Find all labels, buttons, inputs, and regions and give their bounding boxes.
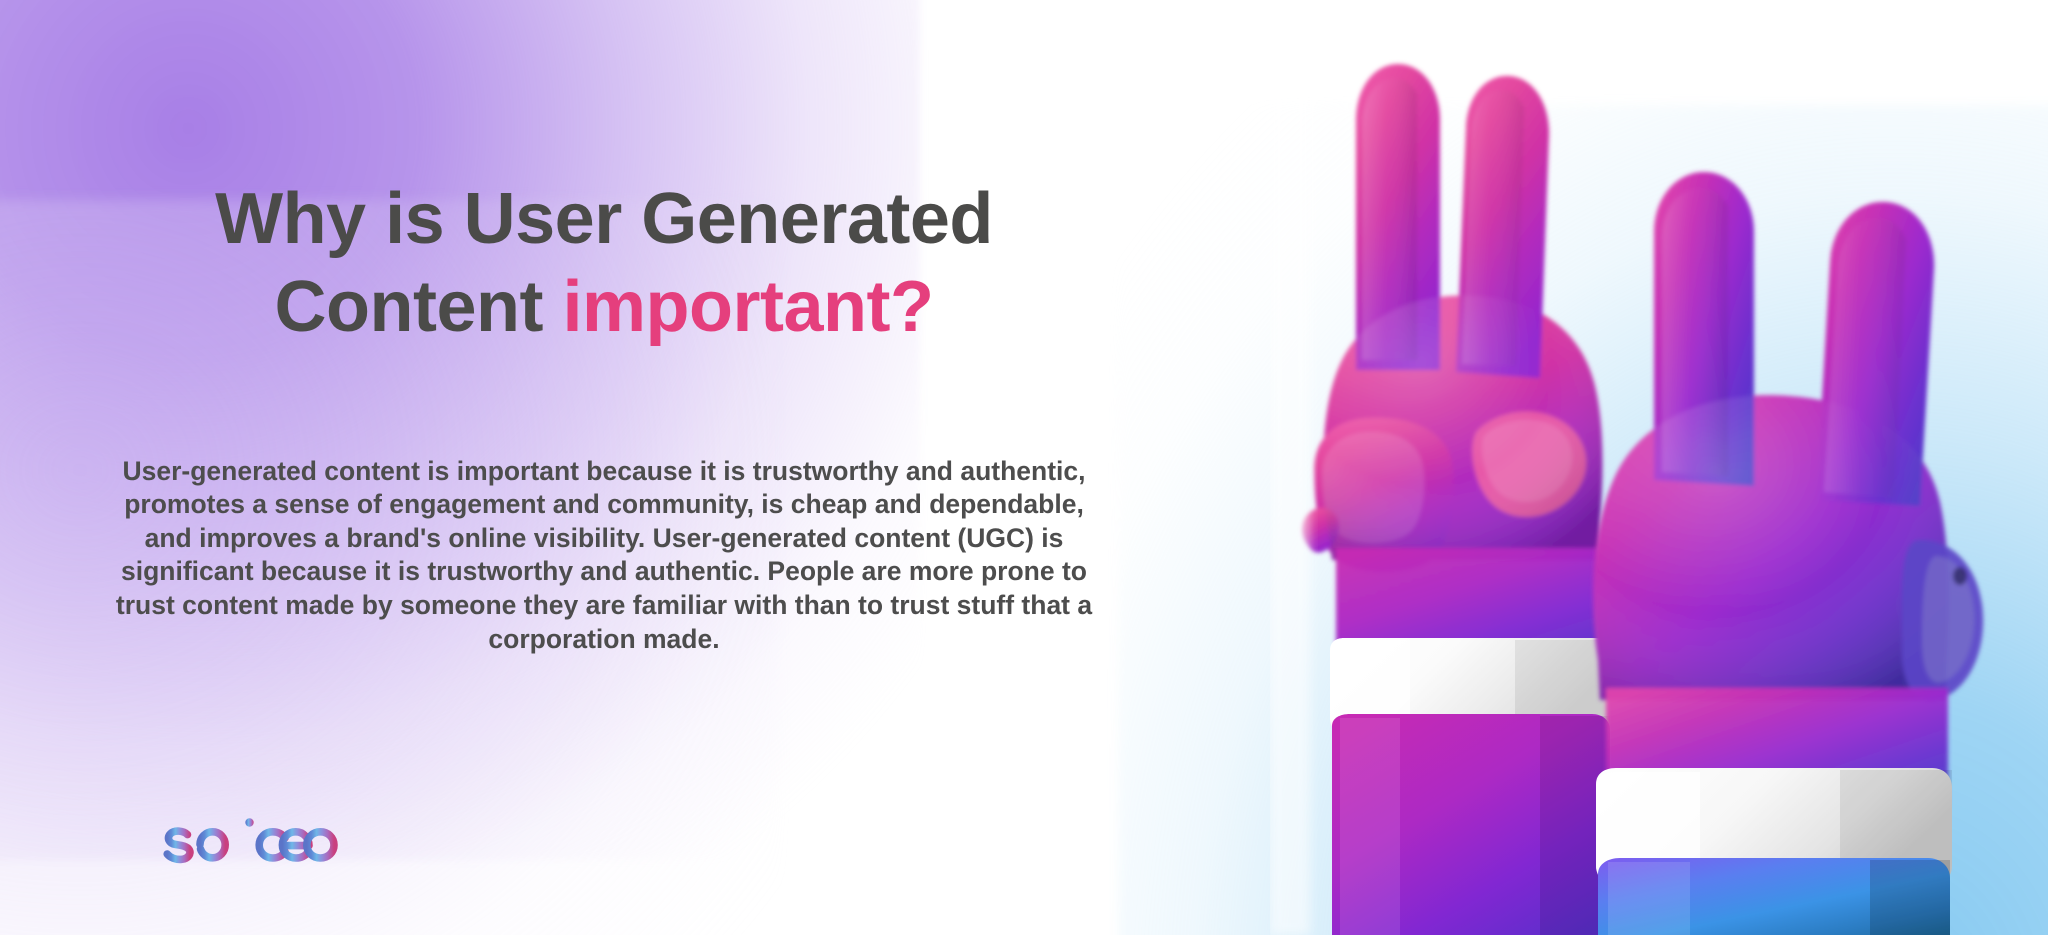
page-title: Why is User Generated Content important? bbox=[104, 176, 1104, 352]
headline-line-2-prefix: Content bbox=[275, 267, 563, 347]
back-hand bbox=[1302, 64, 1602, 660]
headline-line-1: Why is User Generated bbox=[215, 179, 993, 259]
ugc-promo-banner: Why is User Generated Content important?… bbox=[0, 0, 2048, 935]
headline-accent-word: important? bbox=[562, 267, 933, 347]
text-column: Why is User Generated Content important?… bbox=[104, 0, 1104, 935]
back-forearm bbox=[1332, 714, 1610, 935]
hands-illustration bbox=[1270, 0, 2048, 935]
spliced-logo[interactable] bbox=[159, 806, 345, 876]
front-forearm bbox=[1598, 858, 1950, 935]
front-hand bbox=[1593, 172, 1983, 806]
logo-i-dot bbox=[245, 818, 253, 826]
body-paragraph: User-generated content is important beca… bbox=[114, 455, 1094, 657]
